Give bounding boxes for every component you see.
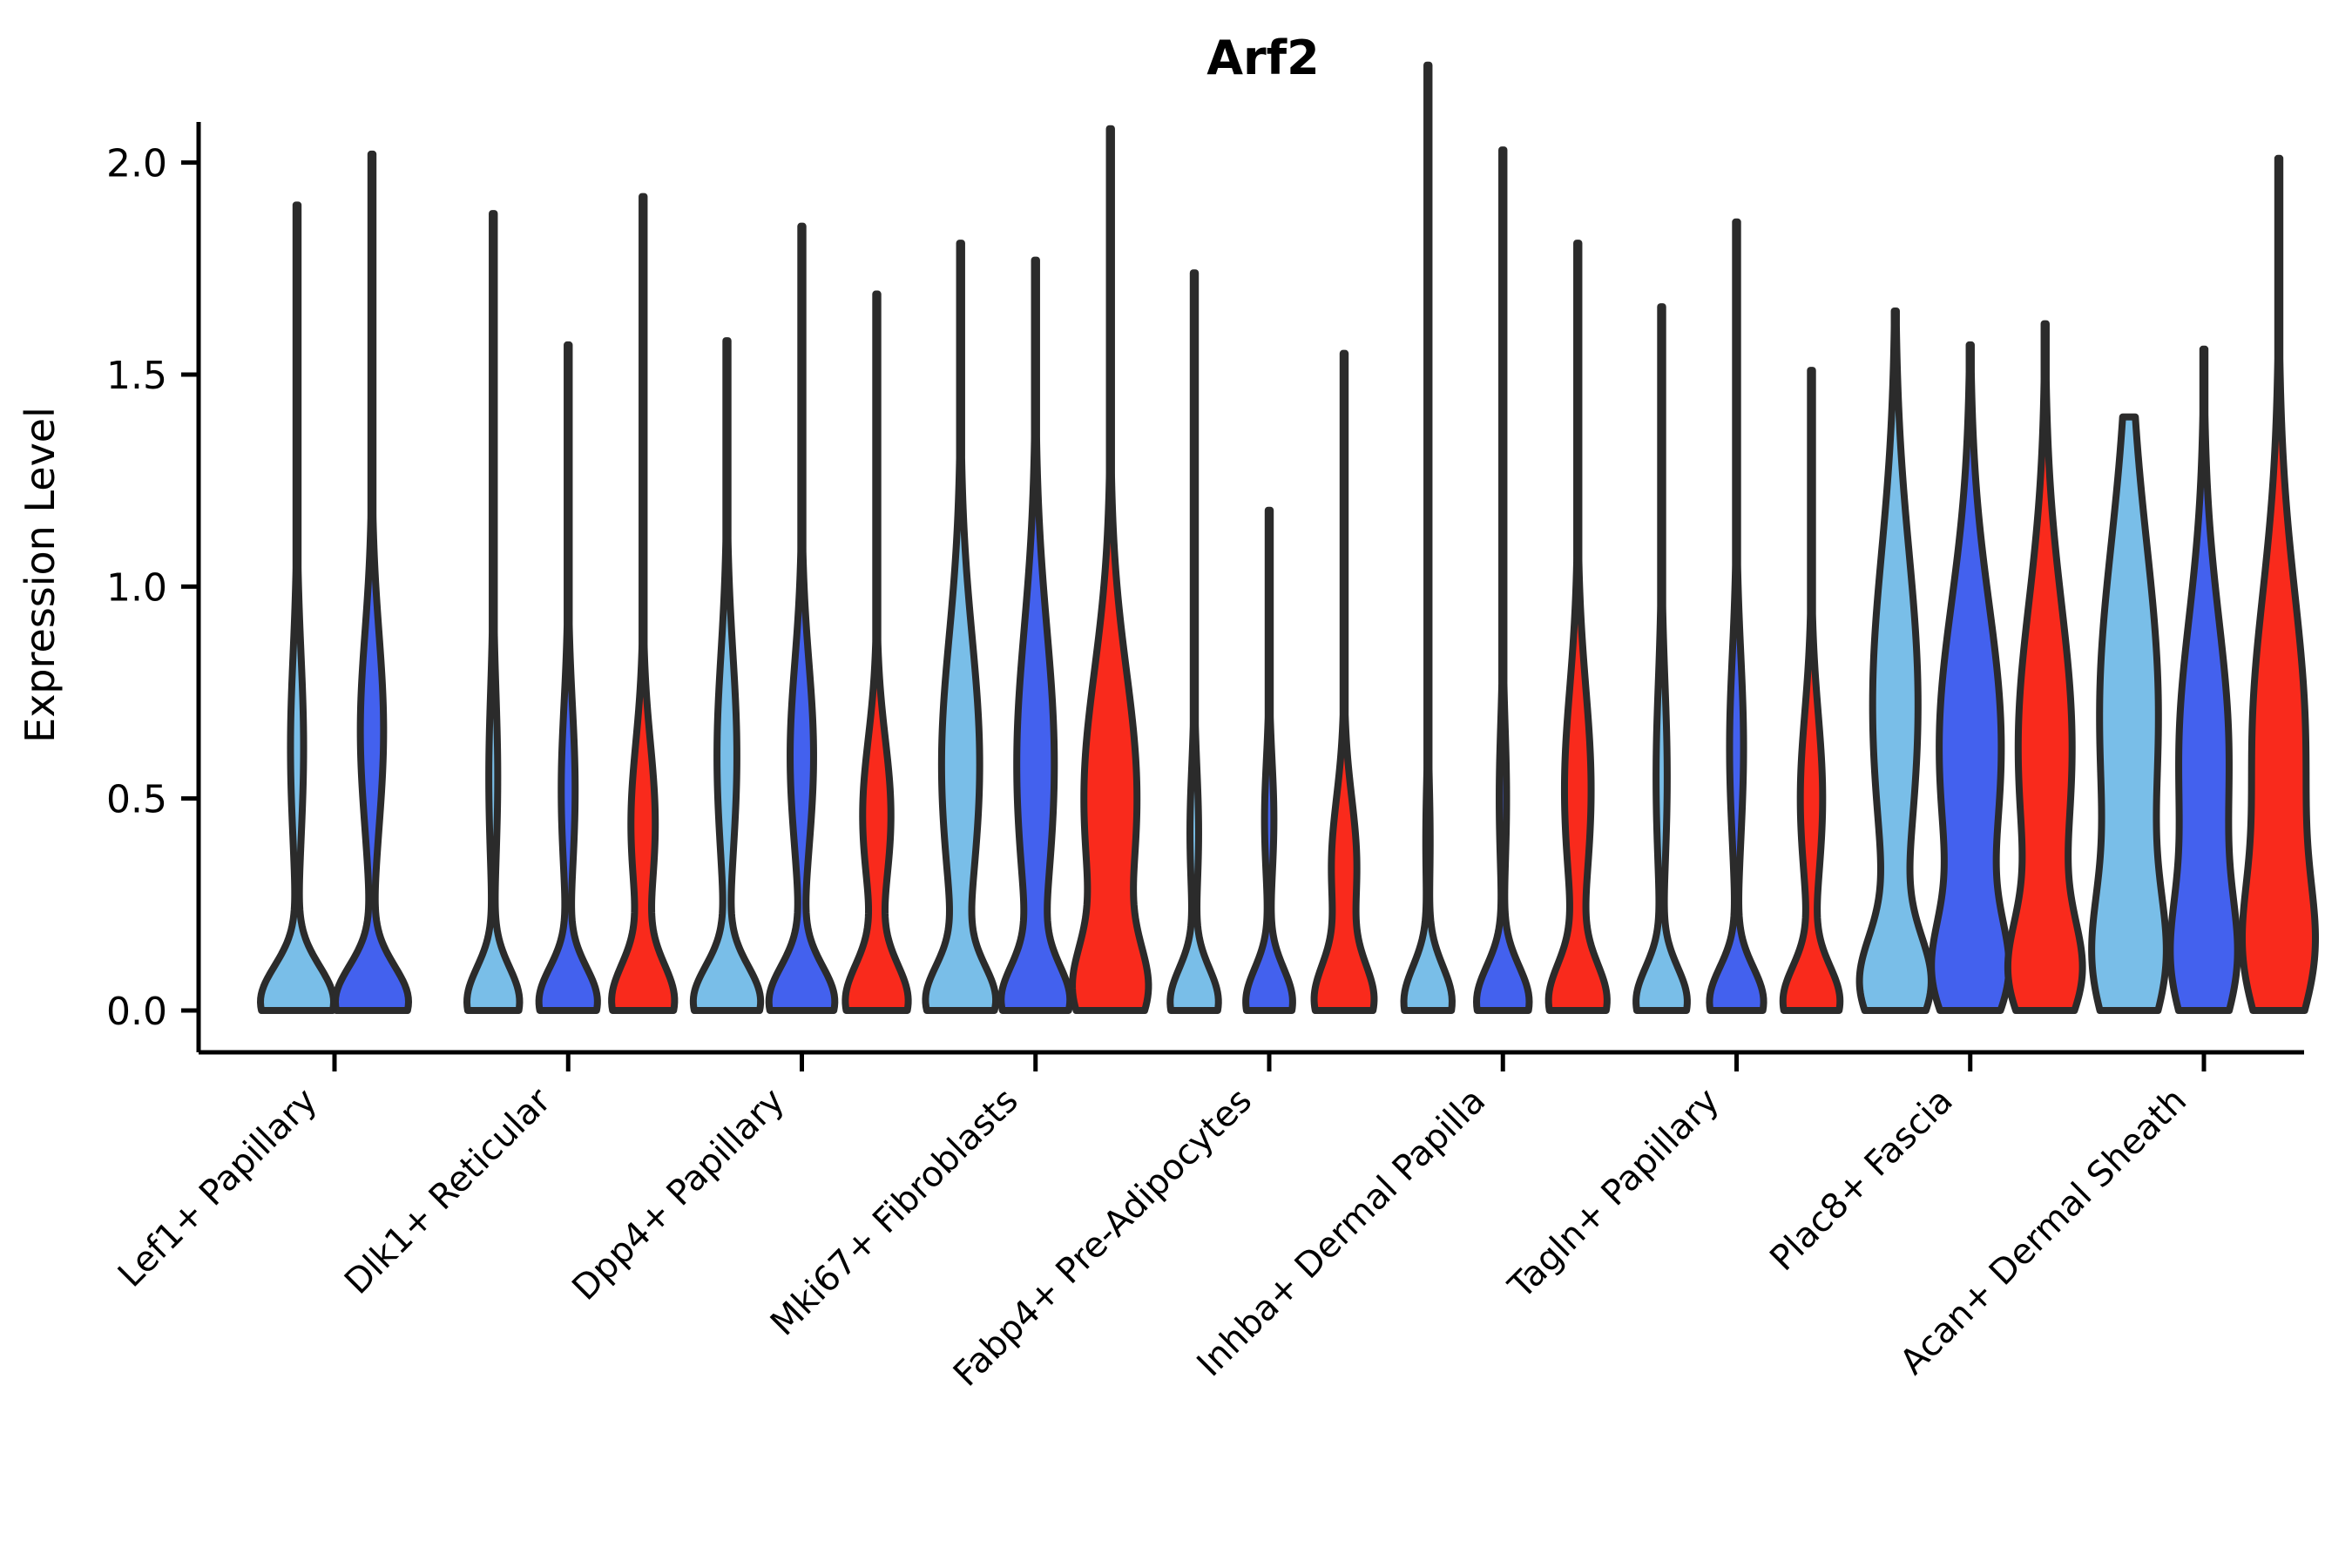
- violin-shape: [335, 154, 409, 1010]
- page-title: Arf2: [1206, 30, 1320, 85]
- violin-shape: [2170, 349, 2237, 1010]
- violin-shape: [769, 226, 835, 1010]
- violins-layer: [260, 65, 2315, 1010]
- violin-shape: [1549, 243, 1607, 1010]
- y-tick-label: 0.5: [106, 778, 167, 822]
- violin-shape: [539, 345, 598, 1010]
- violin-shape: [2092, 417, 2166, 1010]
- y-tick-label: 2.0: [106, 142, 167, 186]
- violin-shape: [1860, 311, 1931, 1010]
- x-tick-label: Lef1+ Papillary: [111, 1081, 325, 1295]
- violin-shape: [925, 243, 996, 1010]
- x-tick-label: Dpp4+ Papillary: [564, 1081, 792, 1308]
- violin-shape: [1072, 129, 1148, 1010]
- violin-shape: [1246, 510, 1293, 1010]
- x-tick-label: Mki67+ Fibroblasts: [763, 1081, 1026, 1344]
- violin-shape: [2242, 159, 2315, 1010]
- violin-shape: [1001, 260, 1070, 1010]
- violin-shape: [1931, 345, 2009, 1010]
- violin-shape: [260, 205, 334, 1010]
- y-tick-label: 1.0: [106, 565, 167, 610]
- x-tick-label: Tagln+ Papillary: [1501, 1081, 1727, 1308]
- violin-shape: [1783, 370, 1841, 1010]
- violin-shape: [845, 294, 908, 1010]
- violin-shape: [612, 197, 674, 1010]
- violin-shape: [467, 213, 519, 1010]
- plot-canvas: 0.00.51.01.52.0Lef1+ PapillaryDlk1+ Reti…: [0, 0, 2352, 1568]
- violin-shape: [2008, 324, 2083, 1010]
- y-tick-label: 1.5: [106, 354, 167, 398]
- violin-plot-figure: 0.00.51.01.52.0Lef1+ PapillaryDlk1+ Reti…: [0, 0, 2352, 1568]
- violin-shape: [1404, 65, 1452, 1010]
- y-axis-label: Expression Level: [17, 407, 64, 743]
- violin-shape: [1170, 273, 1218, 1010]
- violin-shape: [1636, 307, 1687, 1010]
- y-tick-label: 0.0: [106, 990, 167, 1034]
- violin-shape: [693, 341, 760, 1010]
- x-tick-label: Dlk1+ Reticular: [337, 1080, 559, 1302]
- violin-shape: [1315, 354, 1375, 1010]
- violin-shape: [1477, 150, 1529, 1010]
- violin-shape: [1709, 222, 1763, 1010]
- x-tick-label: Plac8+ Fascia: [1762, 1081, 1961, 1280]
